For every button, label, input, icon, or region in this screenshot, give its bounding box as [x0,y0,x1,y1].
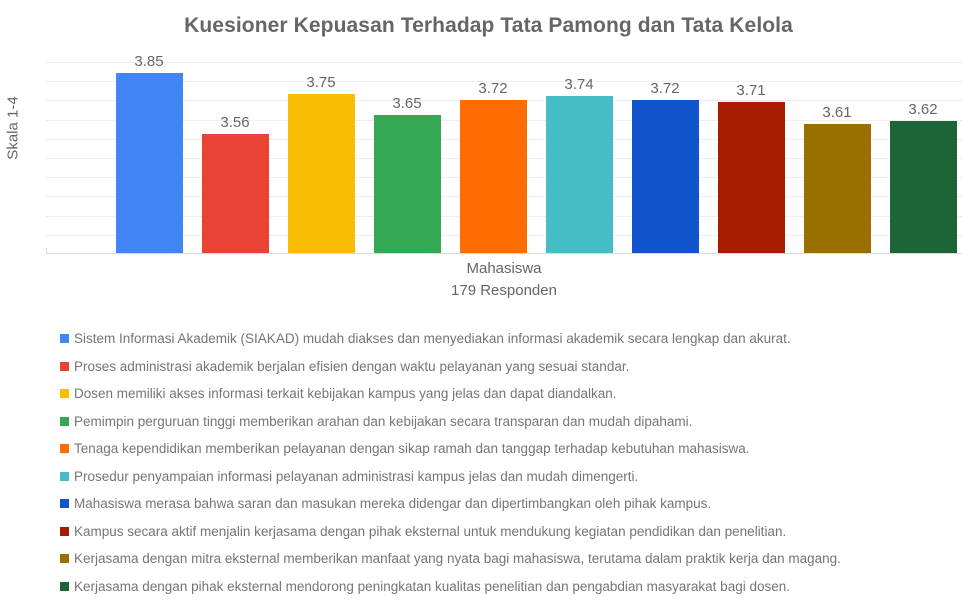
bar[interactable]: 3.72 [460,100,527,253]
bar[interactable]: 3.72 [632,100,699,253]
legend-item[interactable]: Prosedur penyampaian informasi pelayanan… [60,463,970,491]
bar-series: 3.853.563.753.653.723.743.723.713.613.62 [46,62,962,253]
bar-slot: 3.72 [450,62,536,253]
legend-color-swatch-icon [60,417,69,426]
bar-value-label: 3.74 [564,76,593,93]
legend-item-label: Pemimpin perguruan tinggi memberikan ara… [74,408,692,436]
legend-item-label: Sistem Informasi Akademik (SIAKAD) mudah… [74,325,791,353]
bar-value-label: 3.72 [478,80,507,97]
bar-slot: 3.75 [278,62,364,253]
legend-item[interactable]: Pemimpin perguruan tinggi memberikan ara… [60,408,970,436]
bar-value-label: 3.75 [306,74,335,91]
legend-item-label: Kerjasama dengan pihak eksternal mendoro… [74,573,790,601]
bar[interactable]: 3.61 [804,124,871,253]
x-axis-label: Mahasiswa [46,258,962,280]
legend-item[interactable]: Mahasiswa merasa bahwa saran dan masukan… [60,490,970,518]
bar-slot: 3.56 [192,62,278,253]
legend-item[interactable]: Sistem Informasi Akademik (SIAKAD) mudah… [60,325,970,353]
legend-item[interactable]: Kampus secara aktif menjalin kerjasama d… [60,518,970,546]
bar-slot: 3.71 [708,62,794,253]
legend-color-swatch-icon [60,334,69,343]
bar[interactable]: 3.74 [546,96,613,253]
bar-value-label: 3.62 [908,101,937,118]
legend-item-label: Kampus secara aktif menjalin kerjasama d… [74,518,786,546]
legend-color-swatch-icon [60,472,69,481]
legend-color-swatch-icon [60,389,69,398]
legend-color-swatch-icon [60,444,69,453]
x-axis-respondent-count: 179 Responden [46,280,962,302]
legend-color-swatch-icon [60,527,69,536]
bar-slot: 3.74 [536,62,622,253]
bar[interactable]: 3.56 [202,134,269,253]
y-axis-title: Skala 1-4 [5,96,22,159]
x-axis-line [46,253,962,254]
legend-item-label: Prosedur penyampaian informasi pelayanan… [74,463,638,491]
legend-item[interactable]: Kerjasama dengan pihak eksternal mendoro… [60,573,970,601]
legend-color-swatch-icon [60,499,69,508]
bar-slot: 3.61 [794,62,880,253]
x-axis-origin-tick [46,248,47,254]
bar-slot: 3.85 [106,62,192,253]
legend-color-swatch-icon [60,362,69,371]
bar-value-label: 3.56 [220,114,249,131]
legend-item-label: Mahasiswa merasa bahwa saran dan masukan… [74,490,711,518]
bar-value-label: 3.65 [392,95,421,112]
chart-title: Kuesioner Kepuasan Terhadap Tata Pamong … [0,14,977,38]
bar-value-label: 3.61 [822,104,851,121]
bar[interactable]: 3.71 [718,102,785,253]
bar-value-label: 3.85 [134,53,163,70]
bar-slot: 3.65 [364,62,450,253]
bar-value-label: 3.71 [736,82,765,99]
legend-item[interactable]: Tenaga kependidikan memberikan pelayanan… [60,435,970,463]
bar-value-label: 3.72 [650,80,679,97]
bar[interactable]: 3.75 [288,94,355,253]
legend-item-label: Tenaga kependidikan memberikan pelayanan… [74,435,749,463]
legend-item[interactable]: Kerjasama dengan mitra eksternal memberi… [60,545,970,573]
legend-item-label: Kerjasama dengan mitra eksternal memberi… [74,545,841,573]
legend-item[interactable]: Dosen memiliki akses informasi terkait k… [60,380,970,408]
legend-item[interactable]: Proses administrasi akademik berjalan ef… [60,353,970,381]
legend-color-swatch-icon [60,554,69,563]
bar-slot: 3.62 [880,62,966,253]
bar[interactable]: 3.85 [116,73,183,253]
chart-legend: Sistem Informasi Akademik (SIAKAD) mudah… [60,325,970,600]
x-axis-labels: Mahasiswa 179 Responden [46,258,962,302]
bar[interactable]: 3.62 [890,121,957,253]
bar[interactable]: 3.65 [374,115,441,253]
legend-item-label: Proses administrasi akademik berjalan ef… [74,353,629,381]
legend-item-label: Dosen memiliki akses informasi terkait k… [74,380,617,408]
bar-slot: 3.72 [622,62,708,253]
legend-color-swatch-icon [60,582,69,591]
